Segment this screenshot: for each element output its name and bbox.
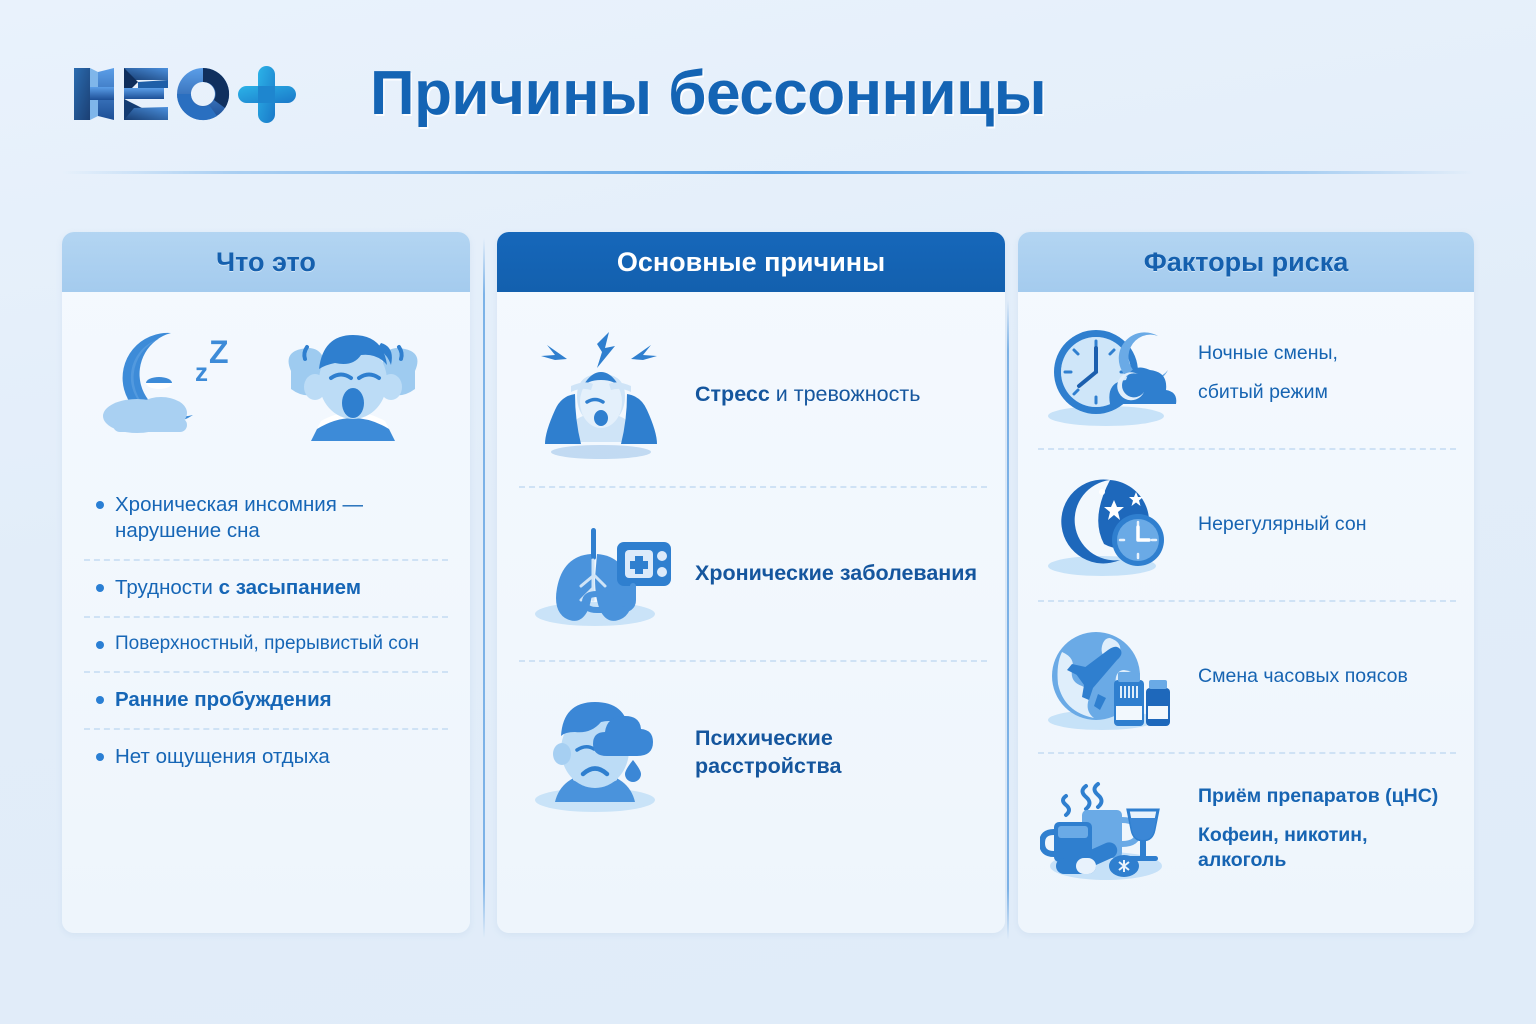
hero-icon-group: z Z [84,306,448,456]
risk-row: Ночные смены,сбитый режим [1038,298,1456,448]
globe-plane-pills-icon [1040,622,1180,732]
risk-label: Смена часовых поясов [1198,664,1408,689]
list-item: Ранние пробуждения [84,671,448,728]
bullet-dot-icon [96,584,104,592]
card-what-it-is: Что это z Z [62,232,470,933]
cause-label: Психические расстройства [695,725,985,781]
cause-row: Психические расстройства [519,660,987,844]
card-body-risk-factors: Ночные смены,сбитый режим [1018,292,1474,904]
list-item: Хроническая инсомния — нарушение сна [84,478,448,559]
column-divider-1 [483,238,485,938]
list-item: Поверхностный, прерывистый сон [84,616,448,671]
list-item-label: Поверхностный, прерывистый сон [115,632,419,656]
bullet-dot-icon [96,641,104,649]
list-item-label: Нет ощущения отдыха [115,744,330,770]
sleeping-person-icon [273,321,433,441]
card-title-main-causes: Основные причины [497,232,1005,292]
risk-row: Смена часовых поясов [1038,600,1456,752]
risk-label: Ночные смены,сбитый режим [1198,341,1338,405]
column-divider-2 [1007,300,1009,940]
svg-text:z: z [195,357,208,387]
list-item-label: Трудности с засыпанием [115,575,361,601]
coffee-wine-pills-icon [1040,774,1180,884]
cause-label: Хронические заболевания [695,560,977,588]
card-title-risk-factors: Факторы риска [1018,232,1474,292]
moon-zzz-icon: z Z [99,321,249,441]
card-title-what-it-is: Что это [62,232,470,292]
page-header: Причины бессонницы [0,0,1536,175]
symptom-list: Хроническая инсомния — нарушение сна Тру… [84,478,448,785]
bullet-dot-icon [96,696,104,704]
list-item: Трудности с засыпанием [84,559,448,616]
svg-text:Z: Z [209,334,229,370]
risk-row: Нерегулярный сон [1038,448,1456,600]
cause-row: Стресс и тревожность [519,304,987,486]
lungs-blood-pressure-icon [521,514,681,634]
cause-row: Хронические заболевания [519,486,987,660]
stress-headache-icon [521,330,681,460]
list-item-label: Хроническая инсомния — нарушение сна [115,492,440,544]
card-body-main-causes: Стресс и тревожность [497,292,1005,844]
sad-face-raincloud-icon [521,688,681,818]
list-item-label: Ранние пробуждения [115,687,332,713]
bullet-dot-icon [96,753,104,761]
cause-label: Стресс и тревожность [695,381,920,409]
clock-night-icon [1040,318,1180,428]
card-body-what-it-is: z Z [62,306,470,785]
moon-stars-clock-icon [1040,470,1180,580]
risk-label: Приём препаратов (цНС)Кофеин, никотин, а… [1198,784,1454,873]
bullet-dot-icon [96,501,104,509]
risk-label: Нерегулярный сон [1198,512,1367,537]
risk-row: Приём препаратов (цНС)Кофеин, никотин, а… [1038,752,1456,904]
card-main-causes: Основные причины [497,232,1005,933]
list-item: Нет ощущения отдыха [84,728,448,785]
infographic-page: Причины бессонницы Что это z Z [0,0,1536,1024]
neo-plus-logo [72,62,302,126]
card-risk-factors: Факторы риска [1018,232,1474,933]
header-divider-rule [62,171,1474,174]
page-title: Причины бессонницы [370,58,1046,129]
